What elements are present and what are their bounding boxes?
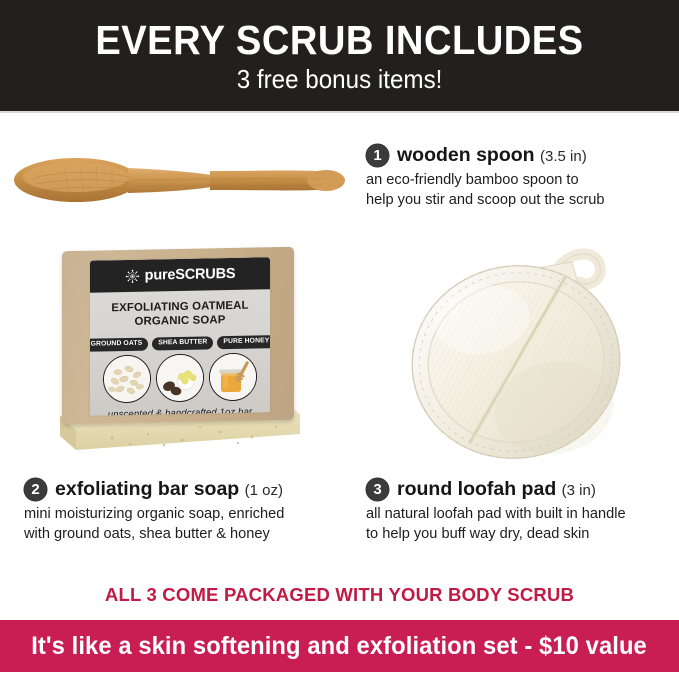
item-1-heading: 1 wooden spoon (3.5 in) [366,144,605,167]
ingredient-pill-oats: GROUND OATS [90,337,148,351]
item-3-title: round loofah pad (3 in) [397,479,596,499]
item-2-title: exfoliating bar soap (1 oz) [55,479,283,499]
ingredient-image-row [90,352,270,403]
shea-butter-icon [156,353,204,402]
item-3-loofah-pad: 3 round loofah pad (3 in) all natural lo… [366,478,626,544]
item-1-wooden-spoon: 1 wooden spoon (3.5 in) an eco-friendly … [366,144,605,210]
infographic-page: EVERY SCRUB INCLUDES 3 free bonus items! [0,0,679,679]
soap-label: pureSCRUBS EXFOLIATING OATMEAL ORGANIC S… [90,257,270,415]
value-banner-text: It's like a skin softening and exfoliati… [32,632,648,661]
header-subtitle: 3 free bonus items! [237,66,443,92]
item-1-number-badge: 1 [366,144,389,167]
oats-icon [103,354,151,403]
value-banner: It's like a skin softening and exfoliati… [0,620,679,672]
item-3-quantity: (3 in) [562,482,596,499]
item-2-desc-line-1: mini moisturizing organic soap, enriched [24,504,284,524]
item-2-bar-soap: 2 exfoliating bar soap (1 oz) mini moist… [24,478,284,544]
item-1-quantity: (3.5 in) [540,148,587,165]
item-1-desc-line-2: help you stir and scoop out the scrub [366,190,605,210]
soap-tagline: unscented & handcrafted 1oz bar [90,406,270,416]
honey-jar-icon [209,352,257,401]
item-2-heading: 2 exfoliating bar soap (1 oz) [24,478,284,501]
wooden-spoon-image [4,140,354,220]
item-2-description: mini moisturizing organic soap, enriched… [24,504,284,544]
ingredient-pill-honey: PURE HONEY [217,335,270,349]
soap-product-name: EXFOLIATING OATMEAL ORGANIC SOAP [90,298,270,330]
soap-brand-name: pureSCRUBS [145,267,236,283]
packaged-note: ALL 3 COME PACKAGED WITH YOUR BODY SCRUB [0,584,679,606]
item-3-description: all natural loofah pad with built in han… [366,504,626,544]
item-3-desc-line-2: to help you buff way dry, dead skin [366,524,626,544]
loofah-pad-image [404,238,644,470]
mandala-icon [125,268,140,283]
soap-package-box: pureSCRUBS EXFOLIATING OATMEAL ORGANIC S… [62,247,294,424]
soap-product-line-2: ORGANIC SOAP [90,313,270,331]
header-divider [0,111,679,113]
item-1-title: wooden spoon (3.5 in) [397,145,587,165]
item-1-desc-line-1: an eco-friendly bamboo spoon to [366,170,605,190]
header-banner: EVERY SCRUB INCLUDES 3 free bonus items! [0,0,679,111]
item-3-desc-line-1: all natural loofah pad with built in han… [366,504,626,524]
item-1-description: an eco-friendly bamboo spoon to help you… [366,170,605,210]
item-3-title-text: round loofah pad [397,478,556,500]
item-3-heading: 3 round loofah pad (3 in) [366,478,626,501]
ingredient-pill-row: GROUND OATS SHEA BUTTER PURE HONEY [90,335,270,351]
item-2-quantity: (1 oz) [245,482,283,499]
item-1-title-text: wooden spoon [397,144,535,166]
item-2-title-text: exfoliating bar soap [55,478,239,500]
ingredient-pill-shea: SHEA BUTTER [152,336,213,350]
item-3-number-badge: 3 [366,478,389,501]
soap-brand-band: pureSCRUBS [90,257,270,292]
bar-soap-image: pureSCRUBS EXFOLIATING OATMEAL ORGANIC S… [52,243,314,465]
header-title: EVERY SCRUB INCLUDES [95,20,583,61]
item-2-number-badge: 2 [24,478,47,501]
item-2-desc-line-2: with ground oats, shea butter & honey [24,524,284,544]
